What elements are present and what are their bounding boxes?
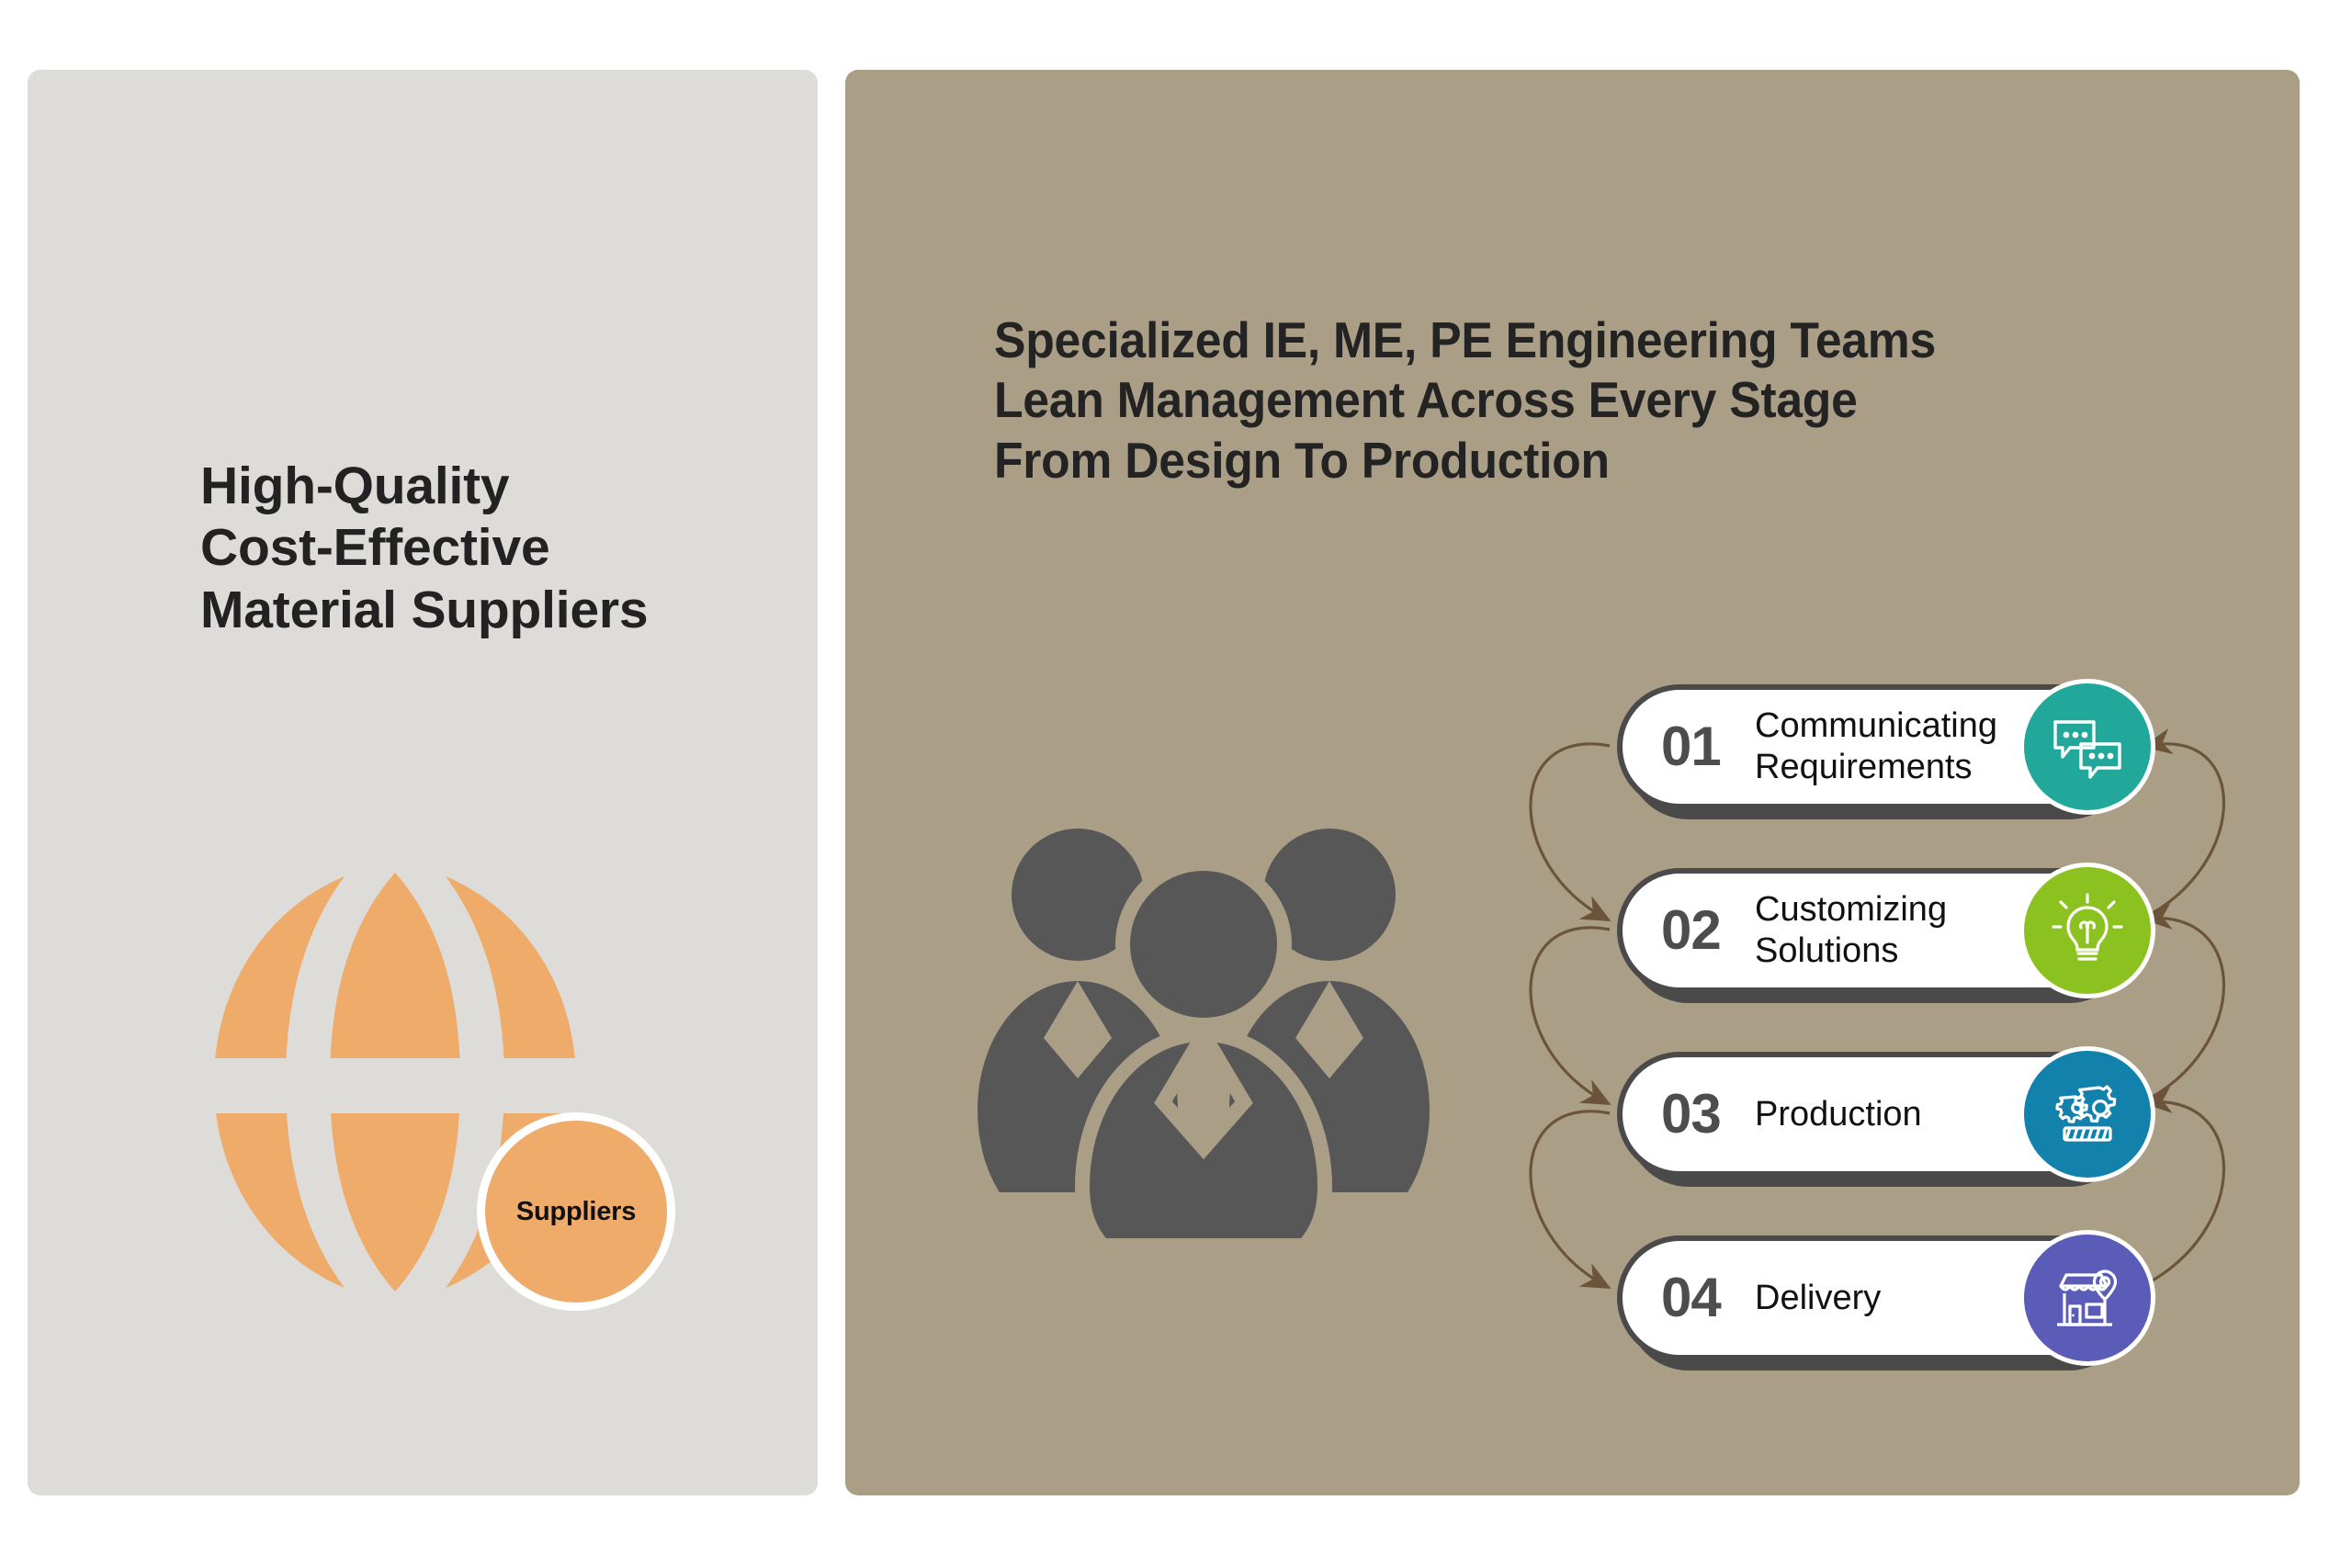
step-number-04: 04 xyxy=(1661,1270,1749,1325)
step-row-02[interactable]: 02 Customizing Solutions xyxy=(1617,868,2122,993)
step-label-02-line-2: Solutions xyxy=(1755,931,1947,972)
step-label-01-line-2: Requirements xyxy=(1755,747,1994,788)
step-number-01: 01 xyxy=(1661,719,1749,774)
step-label-02-line-1: Customizing xyxy=(1755,889,1947,931)
chat-bubbles-icon[interactable] xyxy=(2019,679,2155,815)
step-label-01: Communicating Requirements xyxy=(1755,705,1994,788)
step-label-01-line-1: Communicating xyxy=(1755,705,1994,747)
infographic-canvas: High-Quality Cost-Effective Material Sup… xyxy=(0,0,2352,1568)
step-row-04[interactable]: 04 Delivery xyxy=(1617,1235,2122,1360)
step-number-02: 02 xyxy=(1661,903,1749,958)
gears-conveyor-icon[interactable] xyxy=(2019,1046,2155,1182)
process-steps-list: 01 Communicating Requirements xyxy=(0,0,2352,1568)
step-label-03: Production xyxy=(1755,1094,1922,1135)
step-label-02: Customizing Solutions xyxy=(1755,889,1947,972)
step-row-01[interactable]: 01 Communicating Requirements xyxy=(1617,684,2122,809)
lightbulb-icon[interactable] xyxy=(2019,863,2155,998)
storefront-location-icon[interactable] xyxy=(2019,1230,2155,1366)
step-row-03[interactable]: 03 Production xyxy=(1617,1052,2122,1177)
step-number-03: 03 xyxy=(1661,1087,1749,1142)
step-label-04-line-1: Delivery xyxy=(1755,1278,1881,1319)
step-label-04: Delivery xyxy=(1755,1278,1881,1319)
step-label-03-line-1: Production xyxy=(1755,1094,1922,1135)
